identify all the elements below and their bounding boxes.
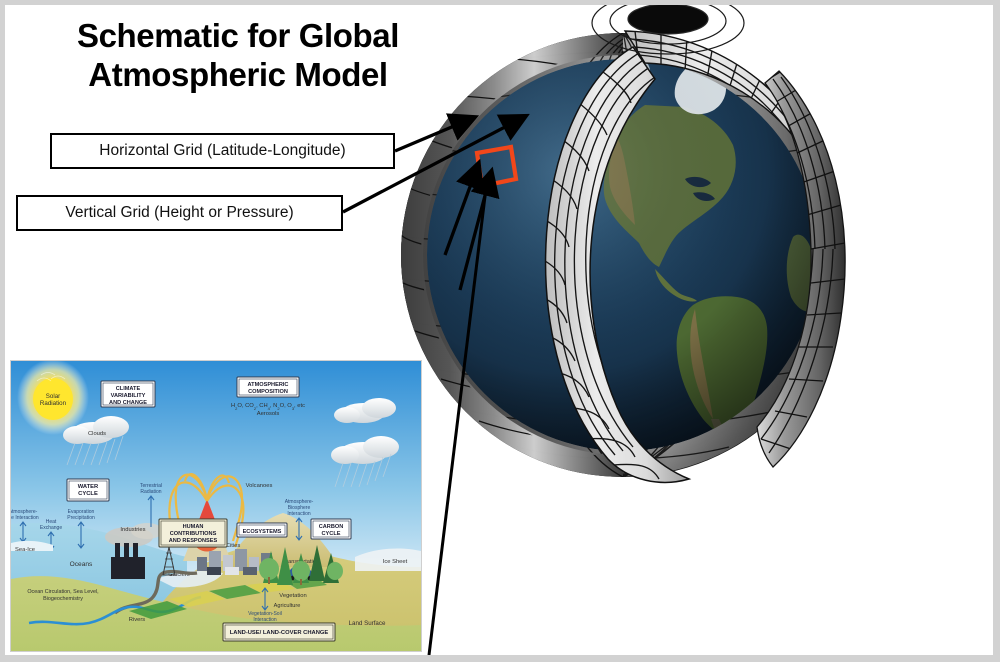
box-carbon-line2: CYCLE (322, 531, 341, 537)
page-title: Schematic for Global Atmospheric Model (23, 17, 453, 95)
label-agriculture: Agriculture (274, 603, 301, 609)
label-terrestrial-line2: Radiation (140, 489, 161, 495)
box-human-line1: HUMAN (183, 524, 204, 530)
callout-horizontal-grid[interactable]: Horizontal Grid (Latitude-Longitude) (50, 133, 395, 169)
box-human-contributions-and-responses[interactable]: HUMAN CONTRIBUTIONS AND RESPONSES (159, 519, 227, 547)
box-ecosystems[interactable]: ECOSYSTEMS (237, 523, 287, 537)
box-human-line2: CONTRIBUTIONS (170, 531, 217, 537)
label-cities: Cities (226, 543, 241, 549)
label-vegetation: Vegetation (279, 593, 306, 599)
box-climate-line3: AND CHANGE (109, 400, 147, 406)
climate-system-schematic[interactable]: Solar Radiation CLIMATE VARIABILITY AND … (10, 360, 422, 652)
box-human-line3: AND RESPONSES (169, 538, 218, 544)
label-volcanoes: Volcanoes (246, 483, 273, 489)
callout-horizontal-grid-label: Horizontal Grid (Latitude-Longitude) (99, 142, 345, 160)
label-composition-aerosols: Aerosols (257, 411, 280, 417)
callout-vertical-grid[interactable]: Vertical Grid (Height or Pressure) (16, 195, 343, 231)
box-climate-line2: VARIABILITY (111, 393, 146, 399)
label-ocean-circ-line1: Ocean Circulation, Sea Level, (27, 589, 99, 595)
label-clouds: Clouds (88, 431, 106, 437)
box-carbon-cycle[interactable]: CARBON CYCLE (311, 519, 351, 539)
label-veg-soil-line2: Interaction (253, 617, 277, 623)
box-water-line1: WATER (78, 484, 99, 490)
box-water-line2: CYCLE (78, 491, 98, 497)
box-ecosystems-label: ECOSYSTEMS (243, 529, 282, 535)
slide-page: Schematic for Global Atmospheric Model (5, 5, 993, 655)
label-ice-sheet: Ice Sheet (383, 559, 408, 565)
label-rivers: Rivers (129, 617, 146, 623)
label-atm-bio-line3: Interaction (287, 511, 311, 517)
box-land-use-land-cover-change[interactable]: LAND-USE/ LAND-COVER CHANGE (223, 623, 335, 641)
box-atmcomp-line2: COMPOSITION (248, 389, 288, 395)
label-solar-radiation-line1: Solar (46, 393, 60, 400)
callout-vertical-grid-label: Vertical Grid (Height or Pressure) (65, 204, 293, 222)
label-industries: Industries (120, 527, 145, 533)
box-atmcomp-line1: ATMOSPHERIC (248, 382, 289, 388)
page-title-line2: Atmospheric Model (23, 56, 453, 95)
label-atm-ice-line2: Ice Interaction (11, 515, 39, 521)
label-oceans: Oceans (70, 561, 93, 568)
climate-schematic-canvas: Solar Radiation CLIMATE VARIABILITY AND … (11, 361, 421, 651)
label-land-surface: Land Surface (349, 620, 386, 627)
box-landuse-label: LAND-USE/ LAND-COVER CHANGE (230, 630, 329, 636)
label-evaporation-line2: Precipitation (67, 515, 95, 521)
label-solar-radiation-line2: Radiation (40, 400, 67, 407)
label-heat-line2: Exchange (40, 525, 62, 531)
page-title-line1: Schematic for Global (23, 17, 453, 56)
label-sea-ice: Sea-Ice (15, 547, 35, 553)
box-climate-variability-and-change[interactable]: CLIMATE VARIABILITY AND CHANGE (101, 381, 155, 407)
box-climate-line1: CLIMATE (116, 386, 141, 392)
box-atmospheric-composition[interactable]: ATMOSPHERIC COMPOSITION (237, 377, 299, 397)
label-ocean-circ-line2: Biogeochemistry (43, 596, 83, 602)
earth-globe-with-atmospheric-grid (393, 5, 853, 527)
box-water-cycle[interactable]: WATER CYCLE (67, 479, 109, 501)
box-carbon-line1: CARBON (319, 524, 344, 530)
